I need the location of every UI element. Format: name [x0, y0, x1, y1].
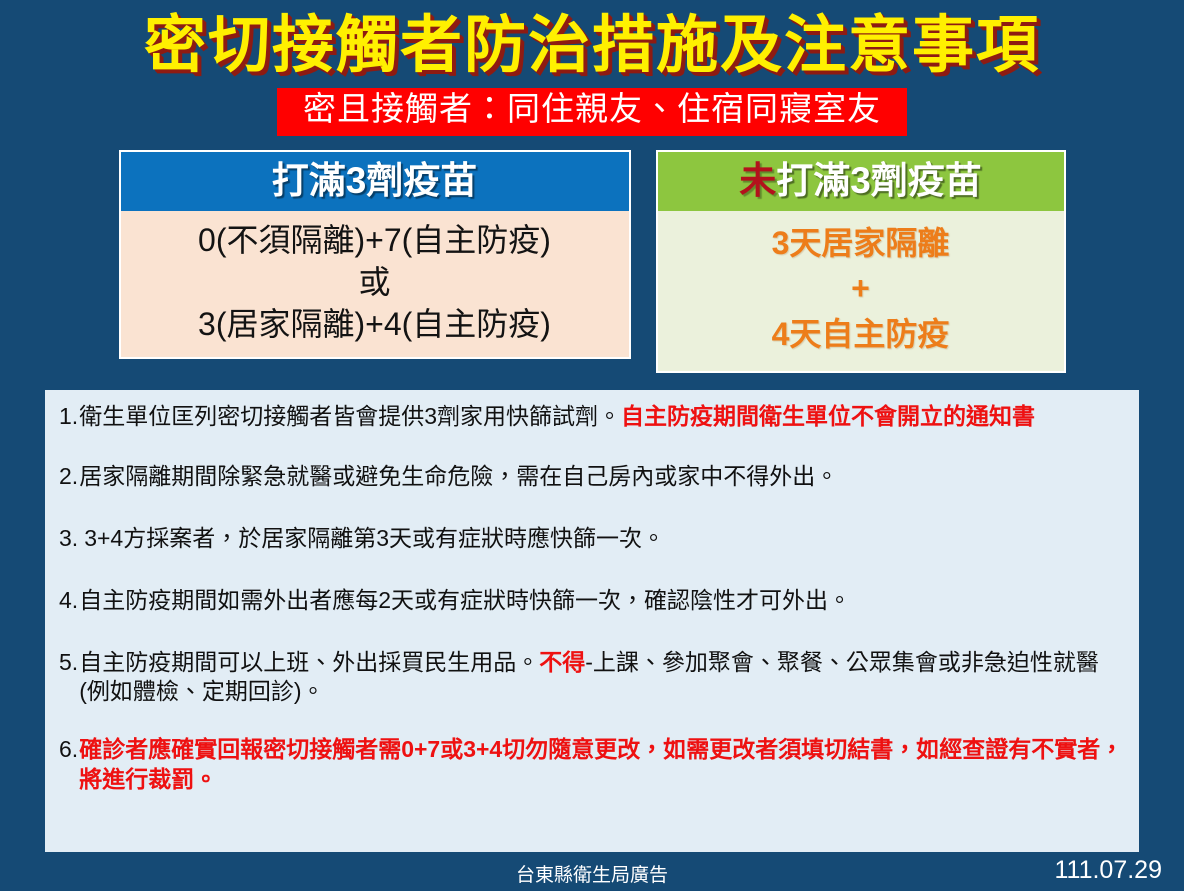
box-not-fully-vaccinated-line-3: 4天自主防疫 — [664, 312, 1058, 357]
box-not-fully-vaccinated-line-2: + — [664, 266, 1058, 311]
note-text: 居家隔離期間除緊急就醫或避免生命危險，需在自己房內或家中不得外出。 — [79, 462, 1125, 492]
box-fully-vaccinated-header-label: 打滿3劑疫苗 — [272, 160, 478, 201]
note-number: 1. — [59, 402, 79, 432]
box-fully-vaccinated-line-3: 3(居家隔離)+4(自主防疫) — [127, 303, 623, 345]
box-fully-vaccinated: 打滿3劑疫苗 0(不須隔離)+7(自主防疫) 或 3(居家隔離)+4(自主防疫) — [119, 150, 631, 360]
note-number: 3. — [59, 524, 84, 554]
box-not-fully-vaccinated-body: 3天居家隔離 + 4天自主防疫 — [658, 211, 1064, 371]
box-not-fully-vaccinated-header-label: 打滿3劑疫苗 — [776, 160, 982, 201]
vaccination-status-boxes: 打滿3劑疫苗 0(不須隔離)+7(自主防疫) 或 3(居家隔離)+4(自主防疫)… — [0, 150, 1184, 373]
note-segment-highlight: 自主防疫期間衛生單位不會開立的通知書 — [621, 403, 1035, 429]
footer-date: 111.07.29 — [1054, 856, 1162, 885]
note-number: 4. — [59, 586, 79, 616]
note-item: 3. 3+4方採案者，於居家隔離第3天或有症狀時應快篩一次。 — [59, 524, 1125, 554]
page-title: 密切接觸者防治措施及注意事項 — [0, 0, 1184, 80]
note-segment: 3+4方採案者，於居家隔離第3天或有症狀時應快篩一次。 — [84, 525, 665, 551]
subtitle-banner: 密且接觸者：同住親友、住宿同寢室友 — [277, 88, 907, 136]
box-not-fully-vaccinated-line-1: 3天居家隔離 — [664, 221, 1058, 266]
note-number: 6. — [59, 735, 79, 765]
note-segment: 衛生單位匡列密切接觸者皆會提供3劑家用快篩試劑。 — [79, 403, 621, 429]
note-item: 5. 自主防疫期間可以上班、外出採買民生用品。不得-上課、參加聚會、聚餐、公眾集… — [59, 648, 1125, 708]
box-fully-vaccinated-line-1: 0(不須隔離)+7(自主防疫) — [127, 219, 623, 261]
note-item: 2. 居家隔離期間除緊急就醫或避免生命危險，需在自己房內或家中不得外出。 — [59, 462, 1125, 492]
note-item: 6. 確診者應確實回報密切接觸者需0+7或3+4切勿隨意更改，如需更改者須填切結… — [59, 735, 1125, 795]
notes-panel: 1. 衛生單位匡列密切接觸者皆會提供3劑家用快篩試劑。自主防疫期間衛生單位不會開… — [45, 390, 1139, 852]
footer: 台東縣衛生局廣告 111.07.29 — [0, 852, 1184, 891]
note-text: 3+4方採案者，於居家隔離第3天或有症狀時應快篩一次。 — [84, 524, 1125, 554]
box-not-fully-vaccinated-header-negation: 未 — [739, 160, 776, 201]
box-not-fully-vaccinated-header: 未打滿3劑疫苗 — [658, 152, 1064, 211]
note-text: 自主防疫期間可以上班、外出採買民生用品。不得-上課、參加聚會、聚餐、公眾集會或非… — [79, 648, 1125, 708]
note-number: 2. — [59, 462, 79, 492]
note-text: 確診者應確實回報密切接觸者需0+7或3+4切勿隨意更改，如需更改者須填切結書，如… — [79, 735, 1125, 795]
subtitle-banner-wrap: 密且接觸者：同住親友、住宿同寢室友 — [0, 88, 1184, 136]
note-number: 5. — [59, 648, 79, 678]
box-fully-vaccinated-line-2: 或 — [127, 261, 623, 303]
box-not-fully-vaccinated: 未打滿3劑疫苗 3天居家隔離 + 4天自主防疫 — [656, 150, 1066, 373]
note-text: 自主防疫期間如需外出者應每2天或有症狀時快篩一次，確認陰性才可外出。 — [79, 586, 1125, 616]
box-fully-vaccinated-body: 0(不須隔離)+7(自主防疫) 或 3(居家隔離)+4(自主防疫) — [121, 211, 629, 358]
note-item: 1. 衛生單位匡列密切接觸者皆會提供3劑家用快篩試劑。自主防疫期間衛生單位不會開… — [59, 402, 1125, 432]
note-segment-highlight: 不得 — [539, 649, 585, 675]
note-item: 4. 自主防疫期間如需外出者應每2天或有症狀時快篩一次，確認陰性才可外出。 — [59, 586, 1125, 616]
note-segment-highlight: 確診者應確實回報密切接觸者需0+7或3+4切勿隨意更改，如需更改者須填切結書，如… — [79, 736, 1123, 792]
note-segment: 自主防疫期間可以上班、外出採買民生用品。 — [79, 649, 539, 675]
note-text: 衛生單位匡列密切接觸者皆會提供3劑家用快篩試劑。自主防疫期間衛生單位不會開立的通… — [79, 402, 1125, 432]
footer-agency: 台東縣衛生局廣告 — [0, 860, 1184, 887]
box-fully-vaccinated-header: 打滿3劑疫苗 — [121, 152, 629, 211]
note-segment: 自主防疫期間如需外出者應每2天或有症狀時快篩一次，確認陰性才可外出。 — [79, 587, 851, 613]
note-segment: 居家隔離期間除緊急就醫或避免生命危險，需在自己房內或家中不得外出。 — [79, 463, 838, 489]
